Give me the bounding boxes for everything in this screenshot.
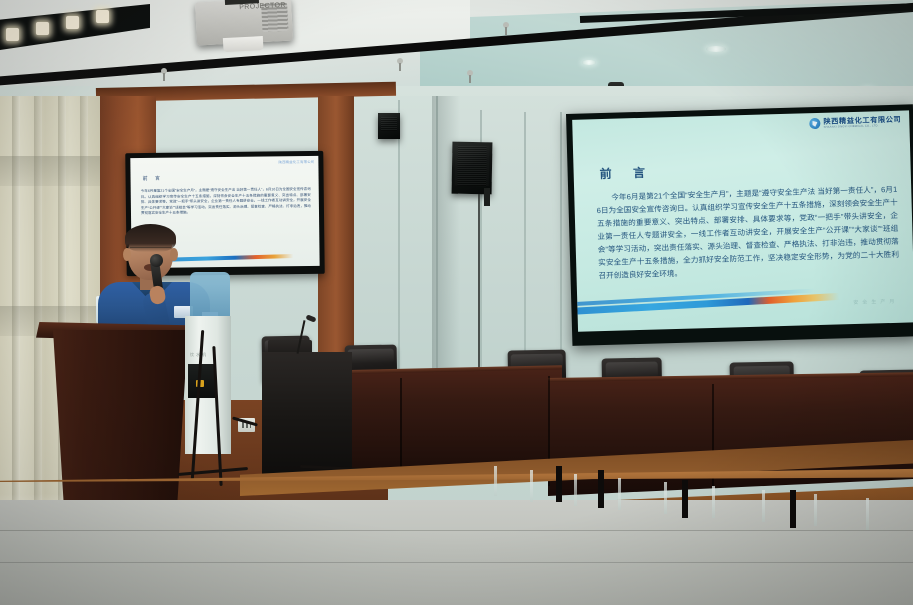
recessed-ceiling-light xyxy=(706,46,726,52)
table-leg xyxy=(556,466,562,502)
projection-screen[interactable]: 陕西精益化工有限公司 SHAANXI JINGYI CHEMICAL CO., … xyxy=(566,104,913,346)
speaker-grill-icon xyxy=(381,117,397,131)
speaker-wire xyxy=(478,194,480,390)
microphone-head-icon xyxy=(150,254,163,267)
floor xyxy=(0,500,913,605)
company-logo: 陕西精益化工有限公司 SHAANXI JINGYI CHEMICAL CO., … xyxy=(809,116,901,130)
glass-rail-rod xyxy=(664,482,667,514)
wall-speaker xyxy=(378,113,400,139)
glass-rail-rod xyxy=(530,470,533,502)
floor-seam xyxy=(0,530,913,531)
company-logo-mark-icon xyxy=(809,118,820,129)
slide-body-text: 今年6月是第21个全国“安全生产月”，主题是“遵守安全生产法 当好第一责任人”，… xyxy=(596,183,899,282)
glass-rail-rod xyxy=(618,478,621,510)
wall-speaker xyxy=(452,142,493,195)
monitor-slide-body: 今年6月是第21个全国“安全生产月”，主题是“遵守安全生产法 当好第一责任人”，… xyxy=(141,187,311,217)
speaker-podium xyxy=(44,330,194,525)
projection-screen-surface: 陕西精益化工有限公司 SHAANXI JINGYI CHEMICAL CO., … xyxy=(572,110,913,331)
conference-room-photo: PROJECTOR 陕西精益化工有限公司 前 言 今年6月是第21个全国“安全生… xyxy=(0,0,913,605)
glass-rail-rod xyxy=(814,494,817,526)
table-leg xyxy=(598,470,604,508)
wall-panel-seam xyxy=(398,100,400,400)
projector-lens-icon xyxy=(223,36,264,52)
curtain-shadow-band xyxy=(0,156,100,186)
table-leg xyxy=(790,490,796,528)
slot-light xyxy=(66,16,79,29)
monitor-slide-header: 陕西精益化工有限公司 xyxy=(278,159,314,164)
glass-rail-rod xyxy=(712,486,715,518)
slot-light xyxy=(96,10,109,23)
sprinkler-icon xyxy=(160,68,168,81)
recessed-ceiling-light xyxy=(582,60,596,65)
glass-rail-rod xyxy=(494,466,497,496)
sprinkler-icon xyxy=(396,58,404,71)
presenter-ear xyxy=(170,248,178,261)
glass-rail-rod xyxy=(574,474,577,506)
speaker-grill-icon xyxy=(455,146,490,187)
slide-footer-text: 安全生产月 xyxy=(853,298,898,306)
av-rack-cabinet xyxy=(262,352,352,482)
presenter-brow xyxy=(130,247,171,256)
floor-seam xyxy=(0,562,913,563)
table-panel-seam xyxy=(400,378,402,474)
glass-rail-rod xyxy=(866,498,869,530)
monitor-slide-title: 前 言 xyxy=(143,175,163,182)
sprinkler-icon xyxy=(466,70,474,83)
slide-title: 前 言 xyxy=(599,164,654,183)
slot-light xyxy=(6,28,19,41)
slot-light xyxy=(36,22,49,35)
ceiling-projector: PROJECTOR xyxy=(195,0,293,45)
company-logo-english: SHAANXI JINGYI CHEMICAL CO., LTD. xyxy=(824,124,902,130)
speaker-bracket xyxy=(484,188,490,206)
glass-rail-rod xyxy=(762,490,765,522)
slide-body-paragraph: 今年6月是第21个全国“安全生产月”，主题是“遵守安全生产法 当好第一责任人”，… xyxy=(596,183,899,282)
table-leg xyxy=(682,480,688,518)
sprinkler-icon xyxy=(502,22,510,35)
